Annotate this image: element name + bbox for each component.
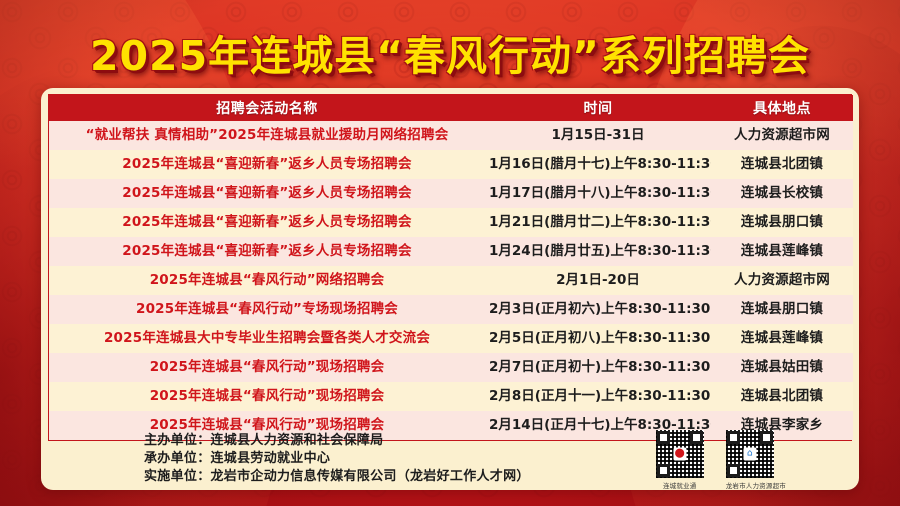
cell-name: 2025年连城县“春风行动”现场招聘会 <box>49 382 485 411</box>
table-header-row: 招聘会活动名称 时间 具体地点 <box>49 95 853 121</box>
table-row: 2025年连城县“喜迎新春”返乡人员专场招聘会1月21日(腊月廿二)上午8:30… <box>49 208 853 237</box>
cell-place: 连城县朋口镇 <box>711 295 853 324</box>
table-row: 2025年连城县“喜迎新春”返乡人员专场招聘会1月16日(腊月十七)上午8:30… <box>49 150 853 179</box>
schedule-table-body: “就业帮扶 真情相助”2025年连城县就业援助月网络招聘会1月15日-31日人力… <box>49 121 853 440</box>
cell-name: 2025年连城县“喜迎新春”返乡人员专场招聘会 <box>49 208 485 237</box>
qrcode-item[interactable]: ⬤连城就业通 <box>656 430 704 490</box>
cell-name: 2025年连城县“春风行动”网络招聘会 <box>49 266 485 295</box>
cell-place: 连城县莲峰镇 <box>711 324 853 353</box>
organizer-line: 承办单位：连城县劳动就业中心 <box>144 450 530 468</box>
schedule-table: 招聘会活动名称 时间 具体地点 “就业帮扶 真情相助”2025年连城县就业援助月… <box>49 95 853 440</box>
cell-place: 连城县北团镇 <box>711 150 853 179</box>
qr-center-logo-icon: ⌂ <box>743 448 756 461</box>
cell-time: 2月7日(正月初十)上午8:30-11:30 <box>485 353 711 382</box>
cell-name: 2025年连城县“喜迎新春”返乡人员专场招聘会 <box>49 237 485 266</box>
qrcode-label: 龙岩市人力资源超市 <box>726 480 786 490</box>
table-row: 2025年连城县“喜迎新春”返乡人员专场招聘会1月17日(腊月十八)上午8:30… <box>49 179 853 208</box>
organizer-list: 主办单位：连城县人力资源和社会保障局承办单位：连城县劳动就业中心实施单位：龙岩市… <box>144 432 530 486</box>
table-row: “就业帮扶 真情相助”2025年连城县就业援助月网络招聘会1月15日-31日人力… <box>49 121 853 150</box>
cell-time: 2月8日(正月十一)上午8:30-11:30 <box>485 382 711 411</box>
qr-finder-icon <box>657 464 670 477</box>
qrcode-item[interactable]: ⌂龙岩市人力资源超市 <box>726 430 786 490</box>
qrcode-group: ⬤连城就业通⌂龙岩市人力资源超市 <box>656 430 786 490</box>
table-row: 2025年连城县“春风行动”现场招聘会2月7日(正月初十)上午8:30-11:3… <box>49 353 853 382</box>
cell-time: 1月21日(腊月廿二)上午8:30-11:30 <box>485 208 711 237</box>
cell-time: 1月15日-31日 <box>485 121 711 150</box>
page-title: 2025年连城县“春风行动”系列招聘会 <box>0 33 900 80</box>
cell-time: 1月17日(腊月十八)上午8:30-11:30 <box>485 179 711 208</box>
organizer-line: 实施单位：龙岩市企动力信息传媒有限公司（龙岩好工作人才网） <box>144 468 530 486</box>
table-row: 2025年连城县“喜迎新春”返乡人员专场招聘会1月24日(腊月廿五)上午8:30… <box>49 237 853 266</box>
qr-finder-icon <box>727 464 740 477</box>
qr-center-logo-icon: ⬤ <box>673 448 686 461</box>
cell-place: 连城县北团镇 <box>711 382 853 411</box>
cell-place: 连城县朋口镇 <box>711 208 853 237</box>
schedule-table-container: 招聘会活动名称 时间 具体地点 “就业帮扶 真情相助”2025年连城县就业援助月… <box>48 94 852 441</box>
organizer-line: 主办单位：连城县人力资源和社会保障局 <box>144 432 530 450</box>
cell-place: 人力资源超市网 <box>711 266 853 295</box>
cell-place: 连城县莲峰镇 <box>711 237 853 266</box>
poster-footer: 主办单位：连城县人力资源和社会保障局承办单位：连城县劳动就业中心实施单位：龙岩市… <box>48 430 852 486</box>
cell-name: 2025年连城县“喜迎新春”返乡人员专场招聘会 <box>49 150 485 179</box>
cell-name: 2025年连城县“春风行动”专场现场招聘会 <box>49 295 485 324</box>
qr-code-icon[interactable]: ⬤ <box>656 430 704 478</box>
cell-time: 1月16日(腊月十七)上午8:30-11:30 <box>485 150 711 179</box>
cell-name: “就业帮扶 真情相助”2025年连城县就业援助月网络招聘会 <box>49 121 485 150</box>
qrcode-label: 连城就业通 <box>656 480 704 490</box>
cell-name: 2025年连城县“春风行动”现场招聘会 <box>49 353 485 382</box>
cell-place: 人力资源超市网 <box>711 121 853 150</box>
column-header-name: 招聘会活动名称 <box>49 95 485 121</box>
table-row: 2025年连城县大中专毕业生招聘会暨各类人才交流会2月5日(正月初八)上午8:3… <box>49 324 853 353</box>
cell-place: 连城县姑田镇 <box>711 353 853 382</box>
table-row: 2025年连城县“春风行动”网络招聘会2月1日-20日人力资源超市网 <box>49 266 853 295</box>
recruitment-fair-poster: 2025年连城县“春风行动”系列招聘会 招聘会活动名称 时间 具体地点 “就业帮… <box>0 0 900 506</box>
cell-time: 2月1日-20日 <box>485 266 711 295</box>
cell-name: 2025年连城县大中专毕业生招聘会暨各类人才交流会 <box>49 324 485 353</box>
cell-time: 2月5日(正月初八)上午8:30-11:30 <box>485 324 711 353</box>
table-row: 2025年连城县“春风行动”现场招聘会2月8日(正月十一)上午8:30-11:3… <box>49 382 853 411</box>
column-header-place: 具体地点 <box>711 95 853 121</box>
cell-time: 2月3日(正月初六)上午8:30-11:30 <box>485 295 711 324</box>
cell-time: 1月24日(腊月廿五)上午8:30-11:30 <box>485 237 711 266</box>
cell-name: 2025年连城县“喜迎新春”返乡人员专场招聘会 <box>49 179 485 208</box>
cell-place: 连城县长校镇 <box>711 179 853 208</box>
qr-code-icon[interactable]: ⌂ <box>726 430 774 478</box>
column-header-time: 时间 <box>485 95 711 121</box>
table-row: 2025年连城县“春风行动”专场现场招聘会2月3日(正月初六)上午8:30-11… <box>49 295 853 324</box>
